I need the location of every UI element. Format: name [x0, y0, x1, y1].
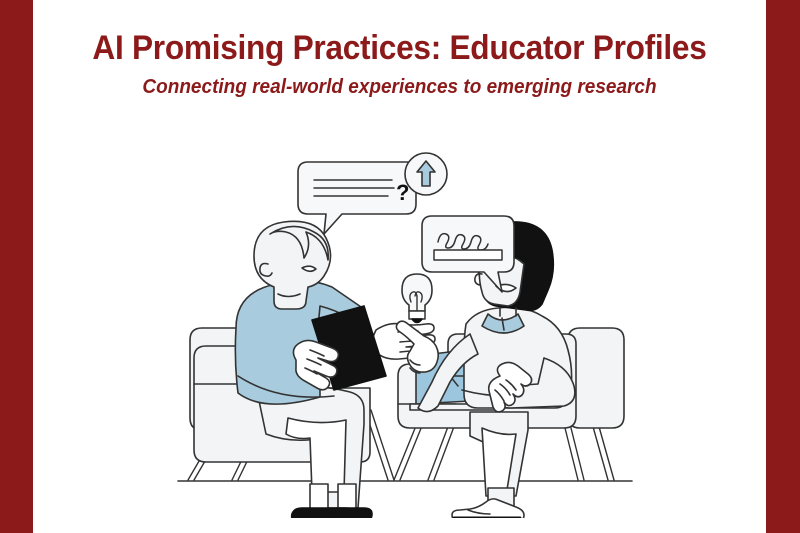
up-arrow-badge	[405, 153, 447, 195]
speech-bubble-question: ?	[298, 162, 416, 234]
slide-canvas: AI Promising Practices: Educator Profile…	[0, 0, 800, 533]
speech-bubble-scribble	[422, 216, 514, 292]
lightbulb-icon	[402, 274, 432, 323]
header-block: AI Promising Practices: Educator Profile…	[33, 28, 766, 100]
page-title: AI Promising Practices: Educator Profile…	[59, 28, 741, 68]
page-subtitle: Connecting real-world experiences to eme…	[51, 74, 747, 100]
left-accent-bar	[0, 0, 33, 533]
right-accent-bar	[766, 0, 800, 533]
two-people-conversation-illustration: ?	[170, 128, 640, 518]
